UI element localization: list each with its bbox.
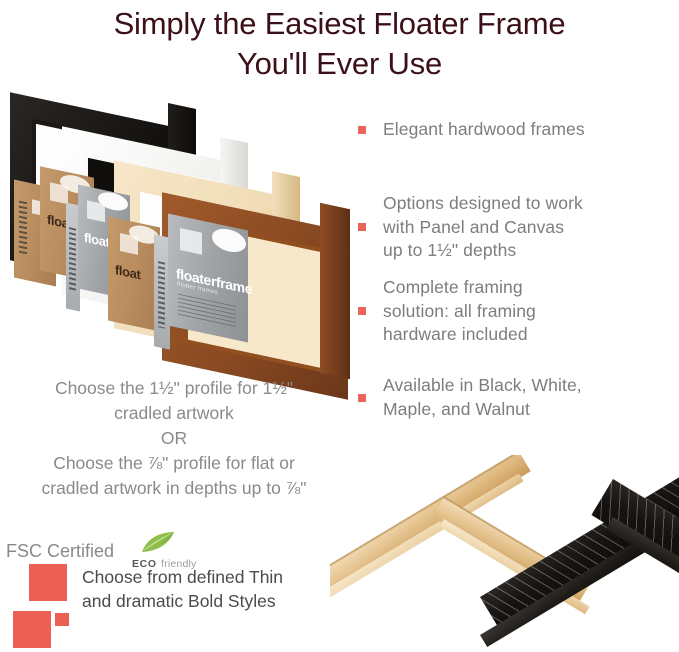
styles-callout-label: Choose from defined Thin and dramatic Bo… xyxy=(82,565,334,613)
box-wordmark-short-3: float xyxy=(115,262,140,282)
box-logo-icon xyxy=(180,228,202,255)
corner-profile-photo xyxy=(330,455,679,652)
style-square-thin xyxy=(13,611,51,648)
profile-instructions: Choose the 1½" profile for 1½" cradled a… xyxy=(0,376,348,501)
list-item-label: Complete framing solution: all framing h… xyxy=(383,276,536,347)
page-title-line-2: You'll Ever Use xyxy=(0,44,679,84)
black-corner-frame xyxy=(480,455,679,652)
bullet-square-icon xyxy=(358,223,366,231)
box-wordmark-short-2: float xyxy=(84,230,109,250)
bullet-square-icon xyxy=(358,126,366,134)
product-box-front: floaterframe floater frames xyxy=(168,213,248,342)
styles-callout: Choose from defined Thin and dramatic Bo… xyxy=(0,558,340,652)
list-item-label: Options designed to work with Panel and … xyxy=(383,192,583,263)
list-item-label: Available in Black, White, Maple, and Wa… xyxy=(383,374,582,421)
product-photo-frame-stack: float float float floaterframe floater f… xyxy=(4,108,352,370)
page-title-line-1: Simply the Easiest Floater Frame xyxy=(0,4,679,44)
list-item: Complete framing solution: all framing h… xyxy=(358,276,673,347)
leaf-icon xyxy=(140,530,186,554)
style-square-bold xyxy=(29,564,67,601)
page-title: Simply the Easiest Floater Frame You'll … xyxy=(0,0,679,84)
list-item: Elegant hardwood frames xyxy=(358,118,673,142)
list-item: Options designed to work with Panel and … xyxy=(358,192,673,263)
box-callout-bubble xyxy=(212,226,246,255)
list-item: Available in Black, White, Maple, and Wa… xyxy=(358,374,673,421)
product-box-kraft-3: float xyxy=(108,216,160,331)
frame-walnut-depth xyxy=(320,203,350,379)
list-item-label: Elegant hardwood frames xyxy=(383,118,585,142)
bullet-square-icon xyxy=(358,394,366,402)
bullet-square-icon xyxy=(358,307,366,315)
style-square-small xyxy=(55,613,69,626)
